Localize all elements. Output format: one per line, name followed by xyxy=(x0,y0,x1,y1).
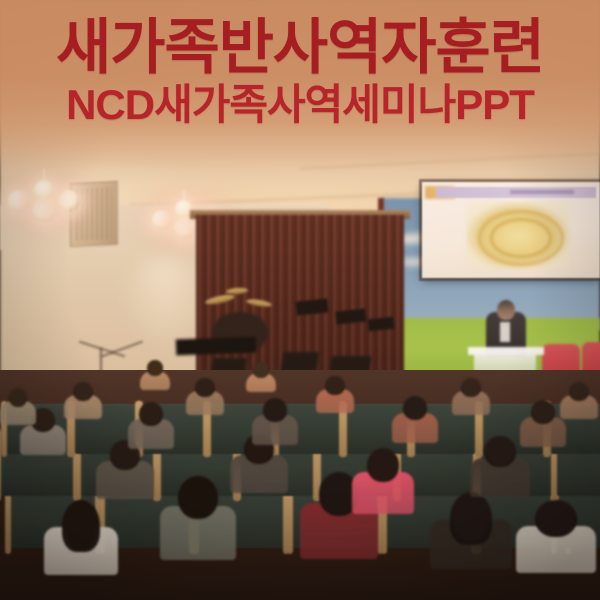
page-subtitle: NCD새가족사역세미나PPT xyxy=(66,84,534,126)
page-title: 새가족반사역자훈련 xyxy=(56,18,544,78)
seminar-banner-image: 새가족반사역자훈련 NCD새가족사역세미나PPT xyxy=(0,0,600,600)
banner-title-block: 새가족반사역자훈련 NCD새가족사역세미나PPT xyxy=(0,0,600,160)
